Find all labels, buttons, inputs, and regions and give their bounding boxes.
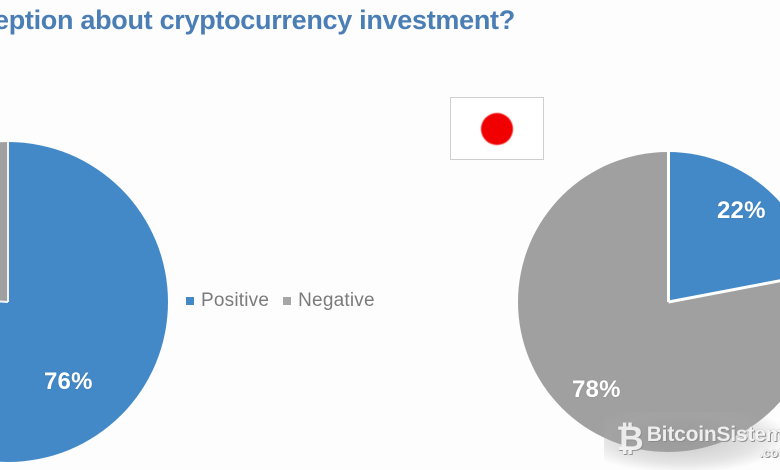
legend-swatch-positive-icon bbox=[186, 297, 194, 305]
watermark-site-name: BitcoinSistemi bbox=[647, 424, 780, 445]
pie-right-negative-label: 78% bbox=[572, 376, 621, 404]
legend-swatch-negative-icon bbox=[283, 297, 291, 305]
legend-item-positive[interactable]: Positive bbox=[186, 290, 269, 312]
pie-chart-left bbox=[0, 142, 168, 462]
watermark-site-tld: .com bbox=[647, 446, 780, 459]
page-title: eption about cryptocurrency investment? bbox=[0, 2, 694, 38]
watermark-text: BitcoinSistemi .com bbox=[647, 424, 780, 459]
japan-flag-icon bbox=[450, 97, 544, 160]
japan-flag-sun-icon bbox=[481, 113, 513, 145]
legend-label-positive: Positive bbox=[201, 290, 269, 312]
bitcoin-logo-icon: ₿ bbox=[616, 422, 644, 456]
legend-item-negative[interactable]: Negative bbox=[283, 290, 375, 312]
pie-right-separator-start bbox=[667, 152, 670, 302]
pie-left-separator-start bbox=[7, 142, 9, 302]
legend-label-negative: Negative bbox=[298, 290, 375, 312]
pie-right-positive-label: 22% bbox=[717, 197, 766, 225]
pie-left-positive-label: 76% bbox=[44, 368, 93, 396]
chart-legend: Positive Negative bbox=[186, 290, 375, 312]
watermark: ₿ BitcoinSistemi .com bbox=[616, 424, 780, 459]
pie-left-slices bbox=[0, 142, 168, 462]
chart-screenshot: eption about cryptocurrency investment? … bbox=[0, 0, 780, 470]
